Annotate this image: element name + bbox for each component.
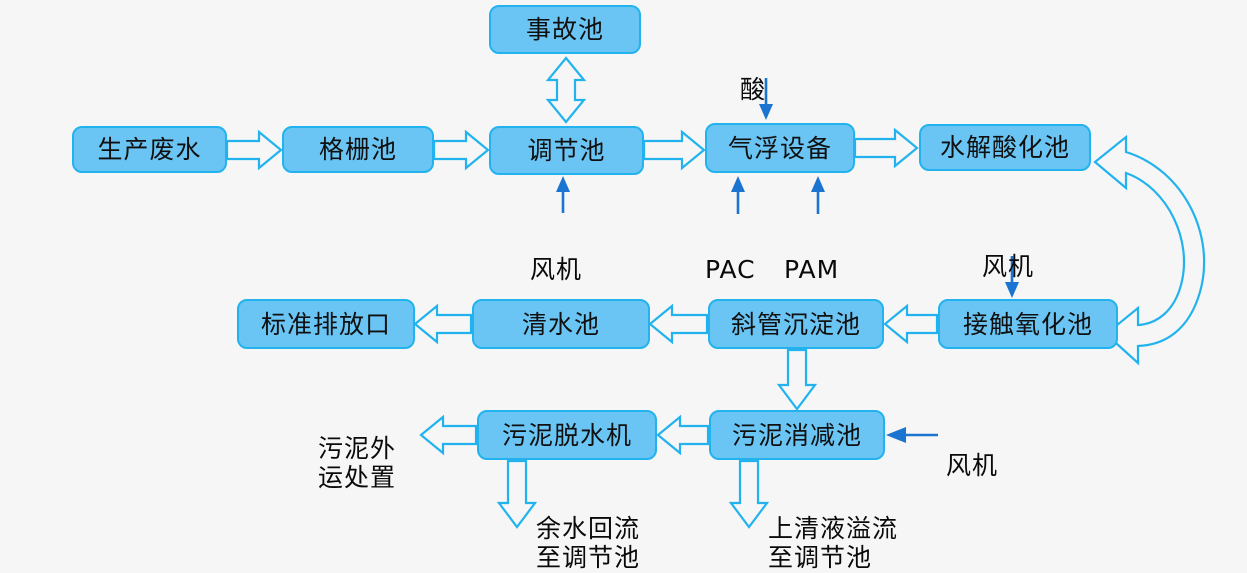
label-text: PAC — [705, 255, 756, 284]
node-sludge-reduction-tank[interactable]: 污泥消减池 — [709, 410, 885, 460]
label-text: PAM — [784, 255, 839, 284]
connector-sludge-to-dewater — [658, 417, 708, 453]
node-label: 污泥脱水机 — [502, 423, 632, 448]
node-contact-oxidation-tank[interactable]: 接触氧化池 — [938, 299, 1118, 349]
node-label: 水解酸化池 — [940, 135, 1070, 160]
connector-dewater-return — [499, 461, 535, 527]
label-text: 上清液溢流 至调节池 — [768, 514, 898, 573]
node-label: 生产废水 — [97, 137, 201, 162]
label-text: 酸 — [740, 75, 766, 104]
label-text: 风机 — [982, 252, 1034, 281]
node-label: 接触氧化池 — [963, 312, 1093, 337]
flowchart-canvas: 生产废水 格栅池 事故池 调节池 气浮设备 水解酸化池 接触氧化池 斜管沉淀池 … — [0, 0, 1247, 549]
connector-flotation-to-hydro — [855, 130, 917, 166]
label-text: 风机 — [946, 451, 998, 480]
label-text: 余水回流 至调节池 — [536, 514, 640, 573]
label-supernatant-overflow: 上清液溢流 至调节池 — [768, 484, 898, 573]
node-air-flotation-equipment[interactable]: 气浮设备 — [705, 123, 855, 173]
node-label: 斜管沉淀池 — [731, 312, 861, 337]
node-clear-water-tank[interactable]: 清水池 — [472, 299, 650, 349]
connector-layer — [0, 0, 1247, 549]
connector-regulate-accident — [548, 58, 584, 122]
label-pac: PAC — [705, 225, 756, 284]
label-text: 风机 — [530, 255, 582, 284]
node-label: 格栅池 — [319, 137, 397, 162]
connector-settler-to-sludge — [779, 350, 815, 409]
node-hydrolysis-acidification-tank[interactable]: 水解酸化池 — [919, 124, 1091, 171]
node-sludge-dewatering-machine[interactable]: 污泥脱水机 — [477, 410, 657, 460]
label-acid: 酸 — [740, 45, 766, 104]
connector-regulate-to-flotation — [644, 132, 704, 168]
connector-raw-to-grid — [227, 132, 281, 168]
node-label: 污泥消减池 — [732, 423, 862, 448]
node-raw-wastewater[interactable]: 生产废水 — [72, 126, 227, 173]
label-blower-sludge: 风机 — [946, 421, 998, 480]
label-residual-water-return: 余水回流 至调节池 — [536, 484, 640, 573]
node-label: 标准排放口 — [261, 312, 391, 337]
label-pam: PAM — [784, 225, 839, 284]
connector-dewater-to-out — [421, 417, 476, 453]
connector-sludge-supernatant — [731, 461, 767, 527]
connector-blower-to-sludge — [886, 427, 938, 443]
connector-contact-to-settler — [885, 306, 937, 342]
node-label: 气浮设备 — [728, 136, 832, 161]
node-label: 调节池 — [527, 138, 605, 163]
node-inclined-tube-sedimentation-tank[interactable]: 斜管沉淀池 — [708, 299, 884, 349]
label-sludge-offsite-disposal: 污泥外 运处置 — [318, 404, 396, 493]
connector-pac-to-flotation — [731, 176, 745, 214]
label-blower-contact: 风机 — [982, 222, 1034, 281]
node-standard-discharge-outlet[interactable]: 标准排放口 — [237, 299, 415, 349]
connector-blower-to-regulate — [556, 176, 570, 213]
node-label: 清水池 — [522, 312, 600, 337]
node-grid-tank[interactable]: 格栅池 — [282, 126, 434, 173]
connector-grid-to-regulate — [434, 132, 488, 168]
node-label: 事故池 — [526, 17, 604, 42]
node-accident-tank[interactable]: 事故池 — [489, 5, 641, 54]
label-text: 污泥外 运处置 — [318, 434, 396, 493]
connector-settler-to-clear — [650, 306, 707, 342]
connector-pam-to-flotation — [811, 176, 825, 214]
connector-clear-to-outlet — [415, 306, 471, 342]
node-regulating-tank[interactable]: 调节池 — [489, 126, 644, 175]
label-blower-regulating: 风机 — [530, 225, 582, 284]
